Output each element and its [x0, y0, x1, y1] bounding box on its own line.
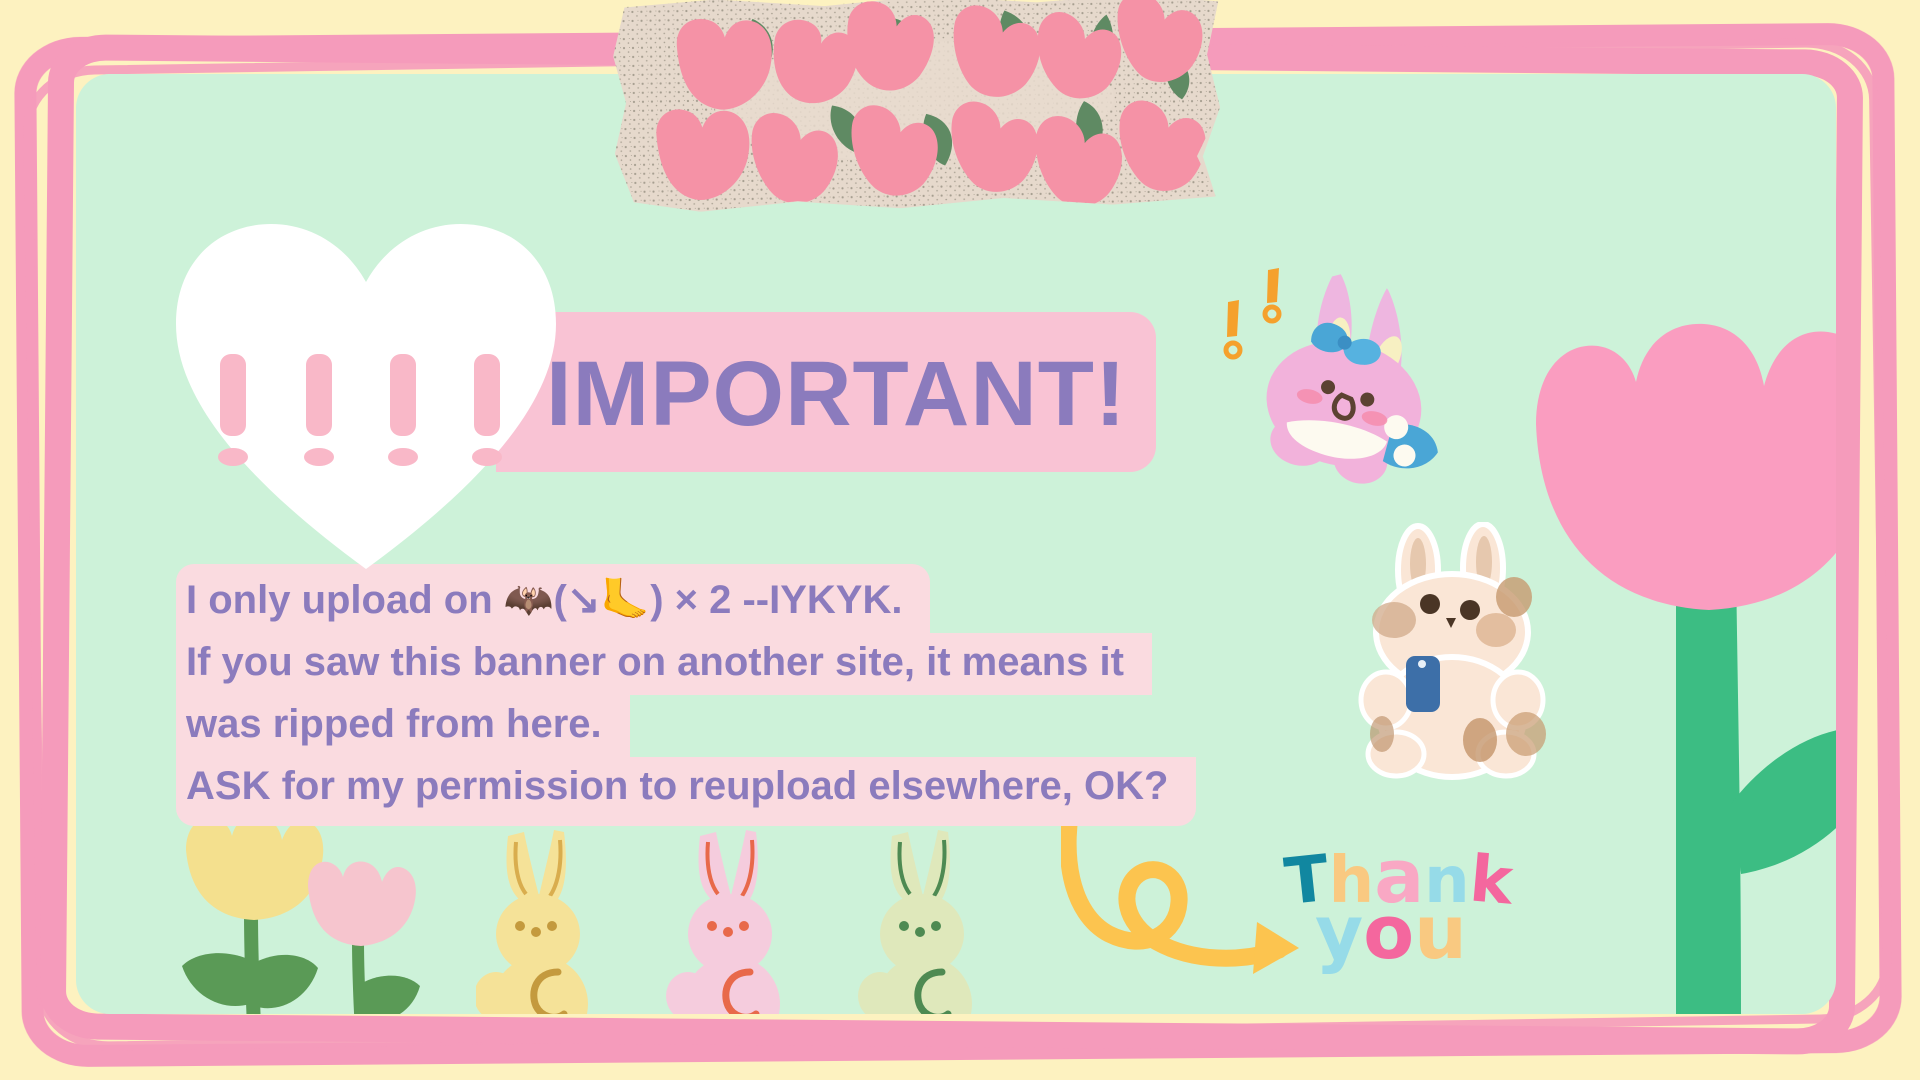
- page-title: IMPORTANT!: [546, 342, 1127, 447]
- flying-bunny-sticker: [1216, 264, 1476, 524]
- white-heart-decoration: [176, 224, 556, 574]
- thankyou-letter: o: [1363, 890, 1414, 976]
- sitting-bunny-sticker: [1348, 522, 1568, 782]
- body-line: I only upload on 🦇(↘🦶) × 2 --IYKYK.: [176, 564, 930, 633]
- mint-card-background: IMPORTANT! I only upload on 🦇(↘🦶) × 2 --…: [76, 74, 1836, 1014]
- exclamation-mark-icon: [218, 354, 248, 466]
- body-line: ASK for my permission to reupload elsewh…: [176, 757, 1196, 826]
- exclamation-mark-icon: [304, 354, 334, 466]
- exclamation-mark-icon: [472, 354, 502, 466]
- body-text-block: I only upload on 🦇(↘🦶) × 2 --IYKYK. If y…: [176, 564, 1196, 826]
- thankyou-letter: u: [1414, 890, 1467, 976]
- thank-you-lettering: Thank you: [1281, 834, 1591, 1014]
- washi-tape-tulips: [612, 0, 1222, 213]
- gummy-bunnies-decoration: [476, 814, 1056, 1014]
- body-line: was ripped from here.: [176, 695, 630, 757]
- washi-tape-decoration: [612, 0, 1222, 213]
- thankyou-letter: y: [1315, 890, 1363, 976]
- exclamation-mark-icon: [388, 354, 418, 466]
- thankyou-letter: k: [1467, 842, 1516, 919]
- thank-you-line-2: you: [1315, 890, 1467, 976]
- banner-canvas: IMPORTANT! I only upload on 🦇(↘🦶) × 2 --…: [0, 0, 1920, 1080]
- small-tulips-decoration: [166, 814, 436, 1014]
- body-line: If you saw this banner on another site, …: [176, 633, 1152, 695]
